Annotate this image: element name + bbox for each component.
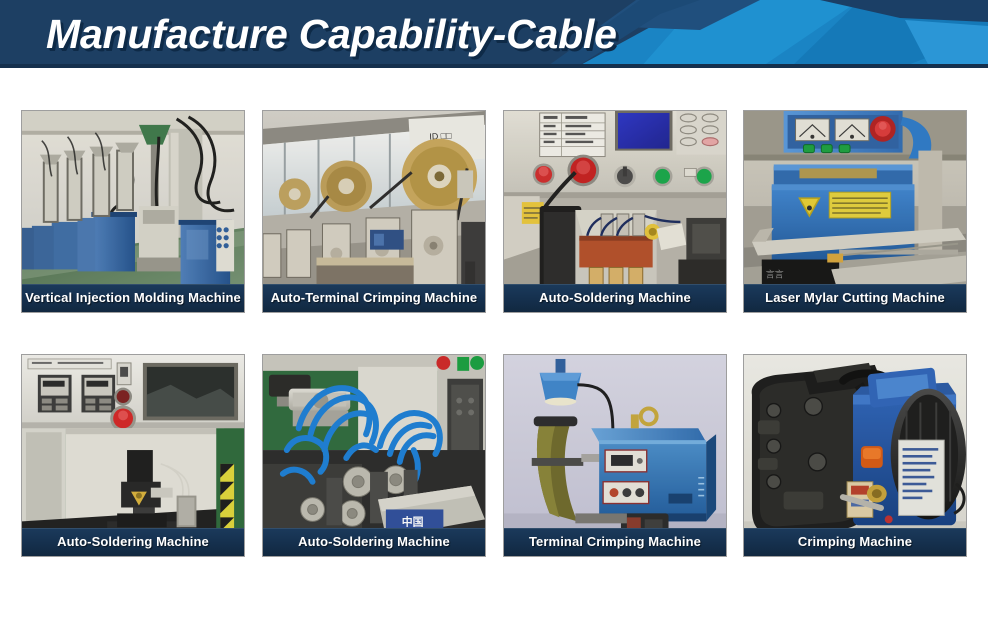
- tile-caption: Auto-Soldering Machine: [22, 528, 244, 556]
- gallery-tile[interactable]: 中国 Auto-Soldering Mac: [262, 354, 486, 557]
- tile-caption: Vertical Injection Molding Machine: [22, 284, 244, 312]
- page-banner: Manufacture Capability-Cable: [0, 0, 988, 68]
- page-title: Manufacture Capability-Cable: [46, 2, 617, 66]
- auto-soldering-machine-pneumatic-photo: 中国: [263, 355, 485, 556]
- gallery-tile[interactable]: Auto-Soldering Machine: [21, 354, 245, 557]
- gallery-tile[interactable]: Terminal Crimping Machine: [503, 354, 727, 557]
- gallery-row: Vertical Injection Molding Machine: [0, 110, 988, 315]
- tile-caption: Auto-Soldering Machine: [263, 528, 485, 556]
- gallery-tile[interactable]: Crimping Machine: [743, 354, 967, 557]
- gallery-tile[interactable]: Vertical Injection Molding Machine: [21, 110, 245, 313]
- vertical-injection-molding-machine-photo: [22, 111, 244, 312]
- gallery-tile[interactable]: 言言 Laser Mylar Cutting Machine: [743, 110, 967, 313]
- tile-caption: Auto-Soldering Machine: [504, 284, 726, 312]
- tile-caption: Laser Mylar Cutting Machine: [744, 284, 966, 312]
- laser-mylar-cutting-machine-photo: 言言: [744, 111, 966, 312]
- tile-caption: Terminal Crimping Machine: [504, 528, 726, 556]
- auto-soldering-machine-panel-photo: [504, 111, 726, 312]
- tile-caption: Auto-Terminal Crimping Machine: [263, 284, 485, 312]
- gallery-row: Auto-Soldering Machine: [0, 354, 988, 559]
- machine-gallery: Vertical Injection Molding Machine: [0, 68, 988, 620]
- terminal-crimping-machine-photo: [504, 355, 726, 556]
- crimping-machine-photo: [744, 355, 966, 556]
- gallery-tile[interactable]: Auto-Soldering Machine: [503, 110, 727, 313]
- gallery-tile[interactable]: ID □□: [262, 110, 486, 313]
- tile-caption: Crimping Machine: [744, 528, 966, 556]
- auto-terminal-crimping-machine-photo: ID □□: [263, 111, 485, 312]
- auto-soldering-machine-station-photo: [22, 355, 244, 556]
